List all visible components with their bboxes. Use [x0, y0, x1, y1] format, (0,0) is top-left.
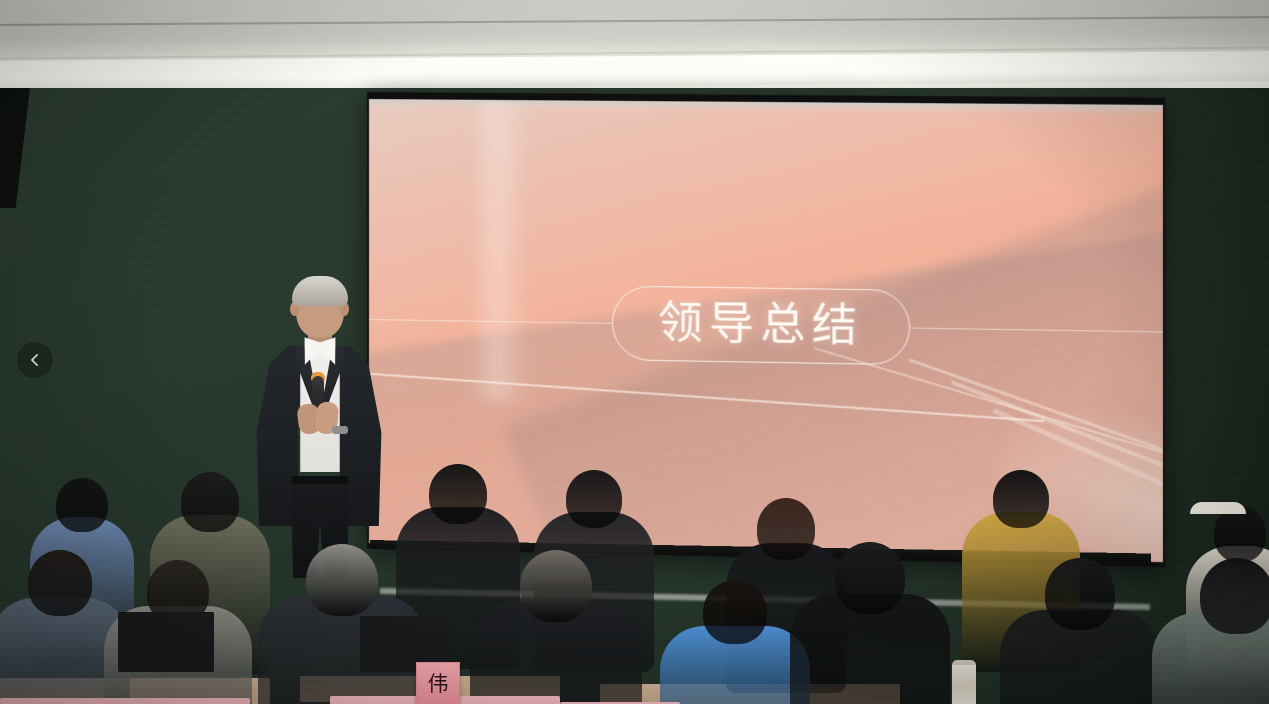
ceiling-seam	[0, 16, 1269, 26]
slide-title-pill: 领导总结	[612, 286, 910, 366]
attendee-head	[566, 470, 622, 528]
attendee-head	[993, 470, 1049, 528]
attendee-with-headband	[1190, 502, 1246, 514]
attendee-12	[660, 580, 810, 704]
desk-name-card-text: 伟	[428, 674, 449, 695]
presenter-hair	[292, 276, 348, 306]
previous-photo-button[interactable]	[17, 342, 53, 378]
ceiling	[0, 0, 1269, 96]
attendee-11	[470, 550, 642, 704]
attendee-15	[1152, 558, 1269, 704]
desk-front-panel	[0, 698, 250, 704]
water-bottle	[952, 660, 976, 704]
attendee-head	[181, 472, 239, 532]
desk-name-card: 伟	[416, 662, 460, 704]
audience	[0, 430, 1269, 704]
attendee-head	[1200, 558, 1269, 634]
attendee-head	[1214, 506, 1266, 562]
chevron-left-icon	[28, 353, 42, 367]
photo-viewer-stage: 领导总结 伟	[0, 0, 1269, 704]
attendee-head	[56, 478, 108, 532]
attendee-13	[790, 542, 950, 704]
slide-title-rule-right	[910, 327, 1163, 332]
attendee-head	[28, 550, 92, 616]
attendee-head	[835, 542, 905, 614]
slide-title-group: 领导总结	[369, 271, 1163, 381]
attendee-head	[429, 464, 487, 524]
attendee-14	[1000, 558, 1160, 704]
attendee-head	[1045, 558, 1115, 630]
attendee-head	[703, 580, 767, 644]
slide-title-text: 领导总结	[658, 301, 864, 349]
attendee-head	[306, 544, 378, 616]
slide-title-rule-left	[369, 319, 612, 324]
attendee-head	[520, 550, 592, 622]
laptop	[118, 612, 214, 672]
